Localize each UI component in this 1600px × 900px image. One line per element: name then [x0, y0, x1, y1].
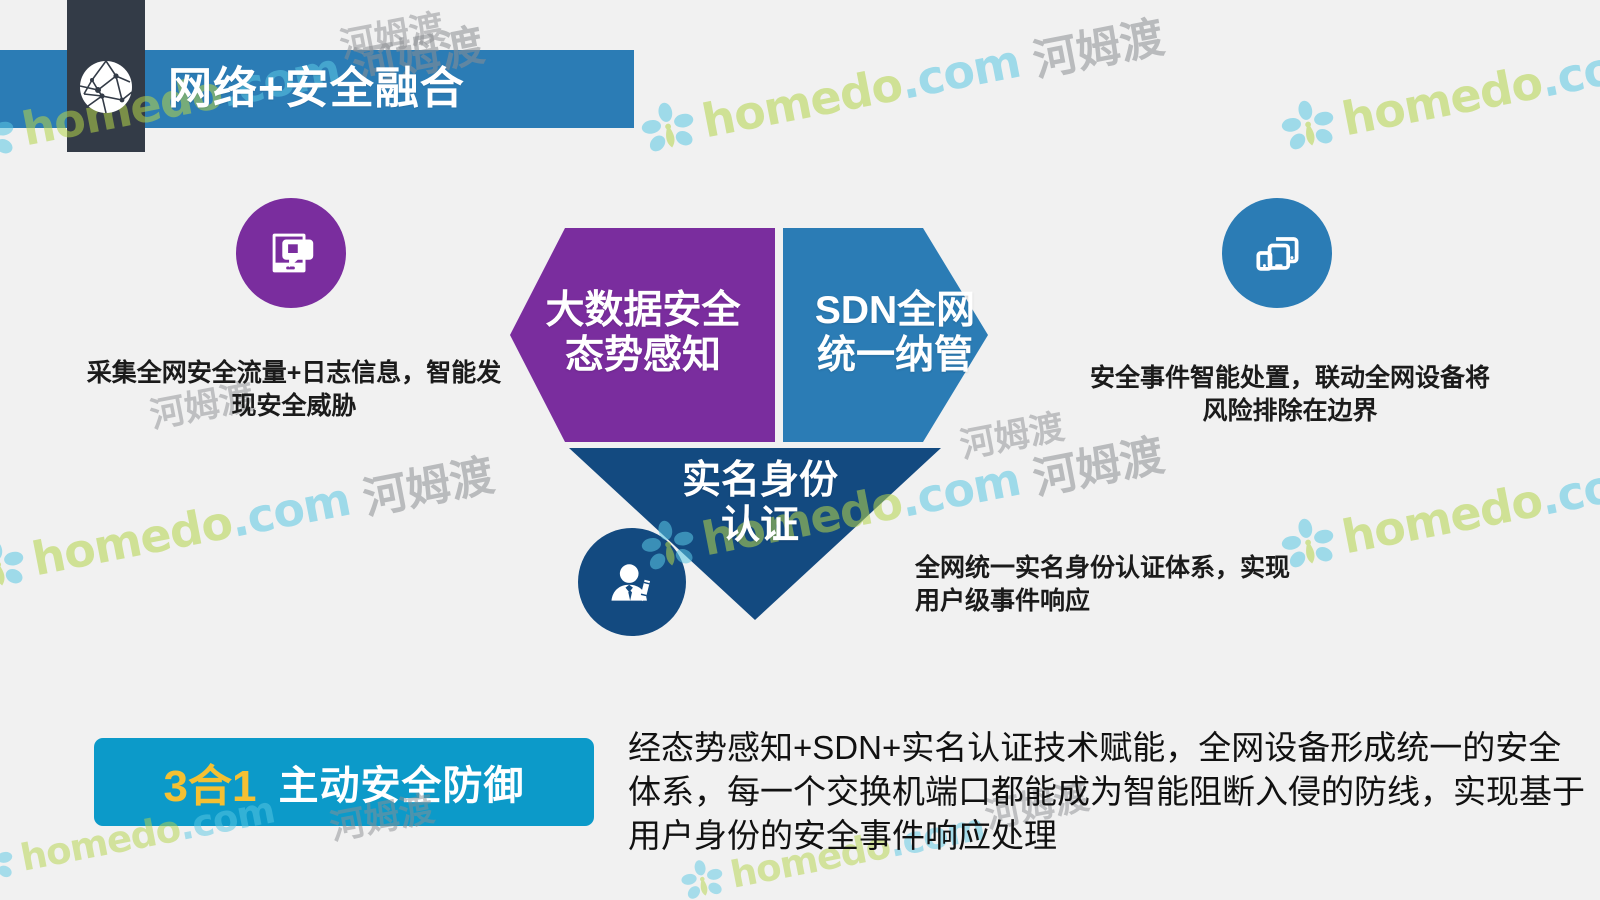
watermark-brand-cn: 河姆渡 [357, 439, 499, 527]
watermark: homedo.com 河姆渡 [1274, 0, 1600, 163]
watermark-brand-tld: .com [896, 34, 1024, 110]
callout-circle-collect[interactable] [236, 198, 346, 308]
diamond-label-realname-line1: 实名身份 [665, 458, 855, 503]
flower-logo-icon [0, 532, 32, 600]
monitor-chat-icon [262, 224, 320, 282]
network-globe-icon [76, 56, 136, 118]
diamond-label-bigdata-line1: 大数据安全 [518, 288, 768, 333]
callout-text-devices: 安全事件智能处置，联动全网设备将风险排除在边界 [1090, 362, 1490, 428]
callout-text-collect: 采集全网安全流量+日志信息，智能发现安全威胁 [84, 357, 504, 423]
watermark-brand-cn: 河姆渡 [1027, 419, 1169, 507]
slide-canvas: 网络+安全融合 大数据安全 态势感知 SDN全网 统一纳管 实名身份 认证 [0, 0, 1600, 900]
diamond-label-sdn-line1: SDN全网 [790, 288, 1000, 333]
multi-device-icon [1249, 225, 1305, 281]
summary-paragraph: 经态势感知+SDN+实名认证技术赋能，全网设备形成统一的安全体系，每一个交换机端… [628, 726, 1588, 859]
user-signature-icon [604, 554, 660, 610]
summary-badge-label: 主动安全防御 [278, 753, 524, 811]
summary-badge-number: 3合1 [164, 750, 257, 814]
callout-text-identity: 全网统一实名身份认证体系，实现用户级事件响应 [915, 552, 1300, 618]
summary-badge[interactable]: 3合1 主动安全防御 [94, 738, 594, 826]
diamond-label-sdn: SDN全网 统一纳管 [790, 288, 1000, 378]
watermark-brand-latin: homedo [698, 57, 907, 149]
watermark-brand-tld: .com [226, 472, 354, 548]
flower-logo-icon [634, 94, 702, 162]
callout-circle-devices[interactable] [1222, 198, 1332, 308]
diamond-label-bigdata-line2: 态势感知 [518, 333, 768, 378]
watermark-brand-latin: homedo [1338, 473, 1547, 565]
watermark-brand-latin: homedo [1338, 55, 1547, 147]
watermark-brand-tld: .com [1536, 32, 1600, 108]
watermark: homedo.com 河姆渡 [0, 439, 499, 603]
diamond-label-realname-line2: 认证 [665, 503, 855, 548]
flower-logo-icon [1274, 92, 1342, 160]
watermark-brand-tld: .com [1536, 450, 1600, 526]
diamond-label-realname: 实名身份 认证 [665, 458, 855, 548]
watermark: homedo.com 河姆渡 [634, 1, 1169, 165]
flower-logo-icon [676, 854, 730, 900]
flower-logo-icon [0, 837, 20, 891]
diamond-label-bigdata: 大数据安全 态势感知 [518, 288, 768, 378]
diamond-label-sdn-line2: 统一纳管 [790, 333, 1000, 378]
watermark-brand-cn: 河姆渡 [1027, 1, 1169, 89]
page-title: 网络+安全融合 [168, 52, 465, 128]
watermark-brand-latin: homedo [28, 495, 237, 587]
watermark: homedo.com 河姆渡 [1274, 417, 1600, 581]
